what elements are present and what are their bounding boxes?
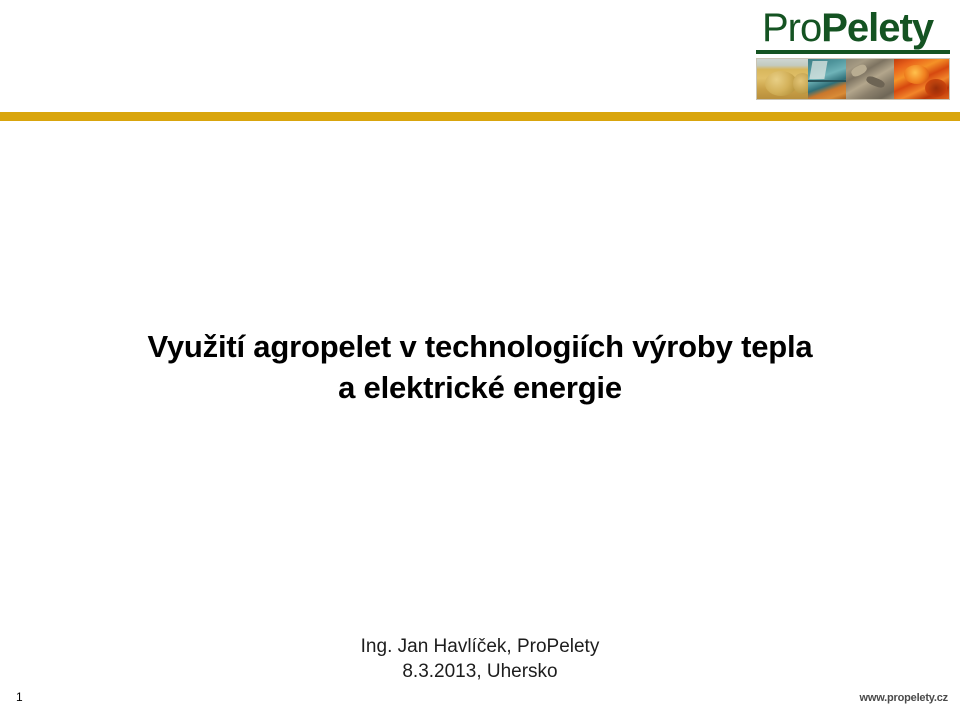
logo-wordmark: ProPelety (756, 8, 950, 48)
logo-wordmark-pro: Pro (762, 6, 821, 50)
propelety-logo: ProPelety (756, 8, 950, 100)
site-url-footer: www.propelety.cz (860, 692, 949, 704)
logo-wordmark-pelety: Pelety (821, 6, 933, 50)
page-number: 1 (16, 690, 23, 704)
gold-divider-rule (0, 112, 960, 121)
logo-photo-strip (756, 58, 950, 100)
photo-flames (894, 59, 949, 99)
slide-byline: Ing. Jan Havlíček, ProPelety 8.3.2013, U… (0, 634, 960, 684)
photo-straw-bales (757, 59, 808, 99)
title-line-2: a elektrické energie (0, 367, 960, 408)
photo-wood-pellets (846, 59, 894, 99)
logo-underline (756, 50, 950, 54)
slide-title: Využití agropelet v technologiích výroby… (0, 326, 960, 408)
byline-author: Ing. Jan Havlíček, ProPelety (0, 634, 960, 659)
photo-pelleting-machinery (808, 59, 846, 99)
title-line-1: Využití agropelet v technologiích výroby… (0, 326, 960, 367)
byline-date-place: 8.3.2013, Uhersko (0, 659, 960, 684)
presentation-slide: ProPelety Využití agropelet v technologi… (0, 0, 960, 720)
